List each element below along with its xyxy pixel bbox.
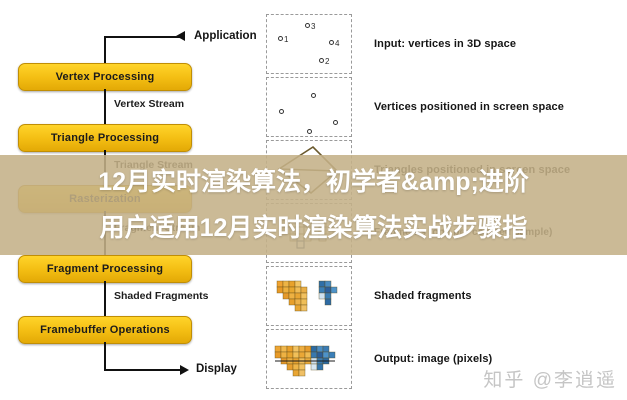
screen-vertex-4 bbox=[333, 119, 339, 128]
caption-input-vertices: Input: vertices in 3D space bbox=[374, 38, 516, 50]
title-overlay-text: 12月实时渲染算法，初学者&amp;进阶 用户适用12月实时渲染算法实战步骤指 bbox=[0, 155, 627, 255]
display-connector-horizontal bbox=[104, 369, 182, 371]
flow-label-vertex-stream: Vertex Stream bbox=[114, 98, 184, 110]
connector-vertex-stream bbox=[104, 89, 106, 124]
vertex-marker-2: 2 bbox=[319, 57, 329, 66]
stage-box-framebuffer-operations[interactable]: Framebuffer Operations bbox=[18, 316, 192, 344]
caption-shaded-fragments: Shaded fragments bbox=[374, 290, 472, 302]
connector-shaded-fragments bbox=[104, 281, 106, 316]
screen-vertex-2 bbox=[307, 128, 313, 137]
application-connector-horizontal bbox=[104, 36, 182, 38]
stage-box-vertex-processing[interactable]: Vertex Processing bbox=[18, 63, 192, 91]
stage-box-triangle-processing[interactable]: Triangle Processing bbox=[18, 124, 192, 152]
screen-vertex-3 bbox=[311, 92, 317, 101]
vertex-marker-4: 4 bbox=[329, 39, 339, 48]
panel-vertices-screen bbox=[266, 77, 352, 137]
flow-label-shaded-fragments: Shaded Fragments bbox=[114, 290, 209, 302]
screenshot-canvas: Application Vertex Processing Vertex Str… bbox=[0, 0, 627, 400]
application-arrowhead-icon bbox=[176, 31, 185, 41]
display-arrowhead-icon bbox=[180, 365, 189, 375]
stage-box-fragment-processing[interactable]: Fragment Processing bbox=[18, 255, 192, 283]
vertex-marker-1: 1 bbox=[278, 35, 288, 44]
panel-vertices-3d: 1 2 3 4 bbox=[266, 14, 352, 74]
caption-vertices-screen-space: Vertices positioned in screen space bbox=[374, 101, 564, 113]
title-line-1: 12月实时渲染算法，初学者&amp;进阶 bbox=[98, 159, 529, 205]
zhihu-watermark: 知乎 @李逍遥 bbox=[483, 365, 617, 392]
display-connector-vertical bbox=[104, 342, 106, 371]
endpoint-application: Application bbox=[194, 30, 257, 42]
title-line-2: 用户适用12月实时渲染算法实战步骤指 bbox=[100, 205, 528, 251]
output-image-icon bbox=[267, 330, 351, 388]
vertex-marker-3: 3 bbox=[305, 22, 315, 31]
endpoint-display: Display bbox=[196, 363, 237, 375]
panel-output-image bbox=[266, 329, 352, 389]
caption-output-image: Output: image (pixels) bbox=[374, 353, 492, 365]
panel-shaded-fragments bbox=[266, 266, 352, 326]
shaded-fragments-icon bbox=[267, 267, 351, 325]
screen-vertex-1 bbox=[279, 108, 285, 117]
